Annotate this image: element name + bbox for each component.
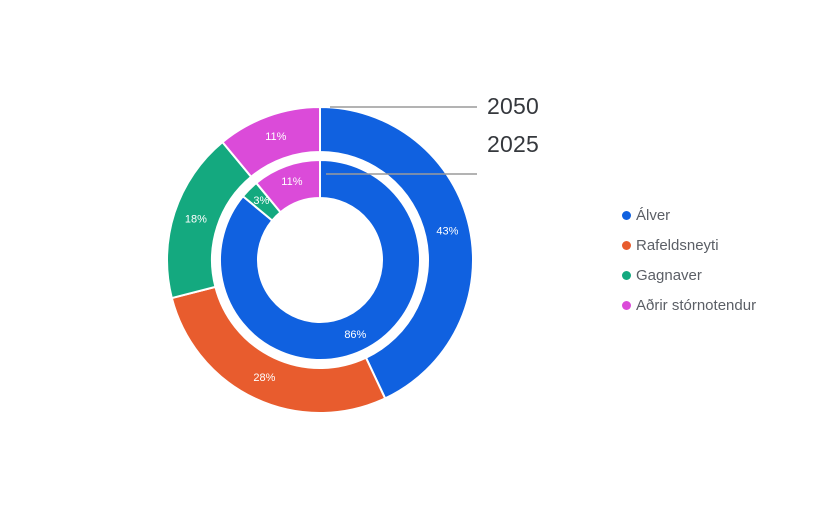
legend-item[interactable]: Aðrir stórnotendur [622,290,812,320]
nested-donut-chart: 43%28%18%11%86%3%11% [0,0,600,530]
slice-percentage-label: 28% [253,372,275,384]
legend-item-label: Rafeldsneyti [636,238,719,253]
legend-item-label: Álver [636,208,670,223]
legend-color-dot-icon [622,271,631,280]
slice-percentage-label: 3% [253,195,269,207]
legend-color-dot-icon [622,301,631,310]
legend-item[interactable]: Rafeldsneyti [622,230,812,260]
donut-ring-2050 [167,107,473,413]
slice-percentage-label: 11% [265,131,286,143]
slice-percentage-label: 43% [436,225,458,237]
ring-annotation-2050: 2050 [487,93,539,120]
legend-color-dot-icon [622,211,631,220]
chart-page: 43%28%18%11%86%3%11% 2050 2025 ÁlverRafe… [0,0,820,530]
legend-item[interactable]: Gagnaver [622,260,812,290]
chart-legend: ÁlverRafeldsneytiGagnaverAðrir stórnoten… [622,200,812,320]
legend-item-label: Gagnaver [636,268,702,283]
donut-ring-2025 [220,160,420,360]
legend-color-dot-icon [622,241,631,250]
slice-percentage-label: 18% [185,214,207,226]
slice-percentage-label: 11% [281,176,302,188]
donut-chart-area: 43%28%18%11%86%3%11% 2050 2025 [0,0,600,530]
slice-percentage-label: 86% [344,329,366,341]
legend-item[interactable]: Álver [622,200,812,230]
ring-annotation-2025: 2025 [487,131,539,158]
legend-item-label: Aðrir stórnotendur [636,298,756,313]
